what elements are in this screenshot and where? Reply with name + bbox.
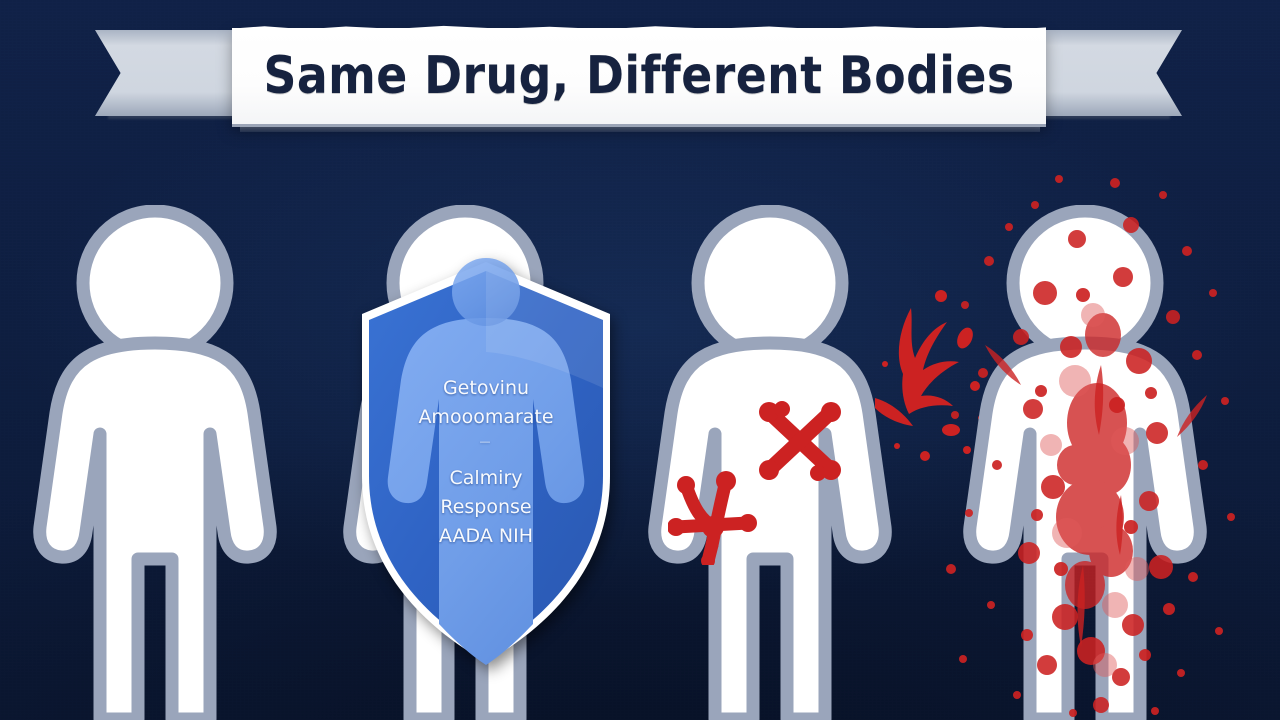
ribbon-tail-left	[95, 30, 255, 116]
illustration-canvas: Same Drug, Different Bodies	[0, 0, 1280, 720]
ribbon-tail-right	[1022, 30, 1182, 116]
title-banner: Same Drug, Different Bodies	[0, 0, 1280, 150]
protection-shield-icon: Getovinu Amooomarate — Calmiry Response …	[355, 258, 617, 666]
body-silhouette-icon	[30, 205, 280, 720]
body-silhouette-icon	[960, 205, 1210, 720]
red-x-mark-arm	[668, 465, 763, 565]
page-title: Same Drug, Different Bodies	[281, 28, 997, 124]
figure-unaffected-body	[30, 205, 280, 720]
figure-severe-reaction-body	[960, 205, 1210, 720]
red-x-mark-chest	[755, 398, 845, 484]
